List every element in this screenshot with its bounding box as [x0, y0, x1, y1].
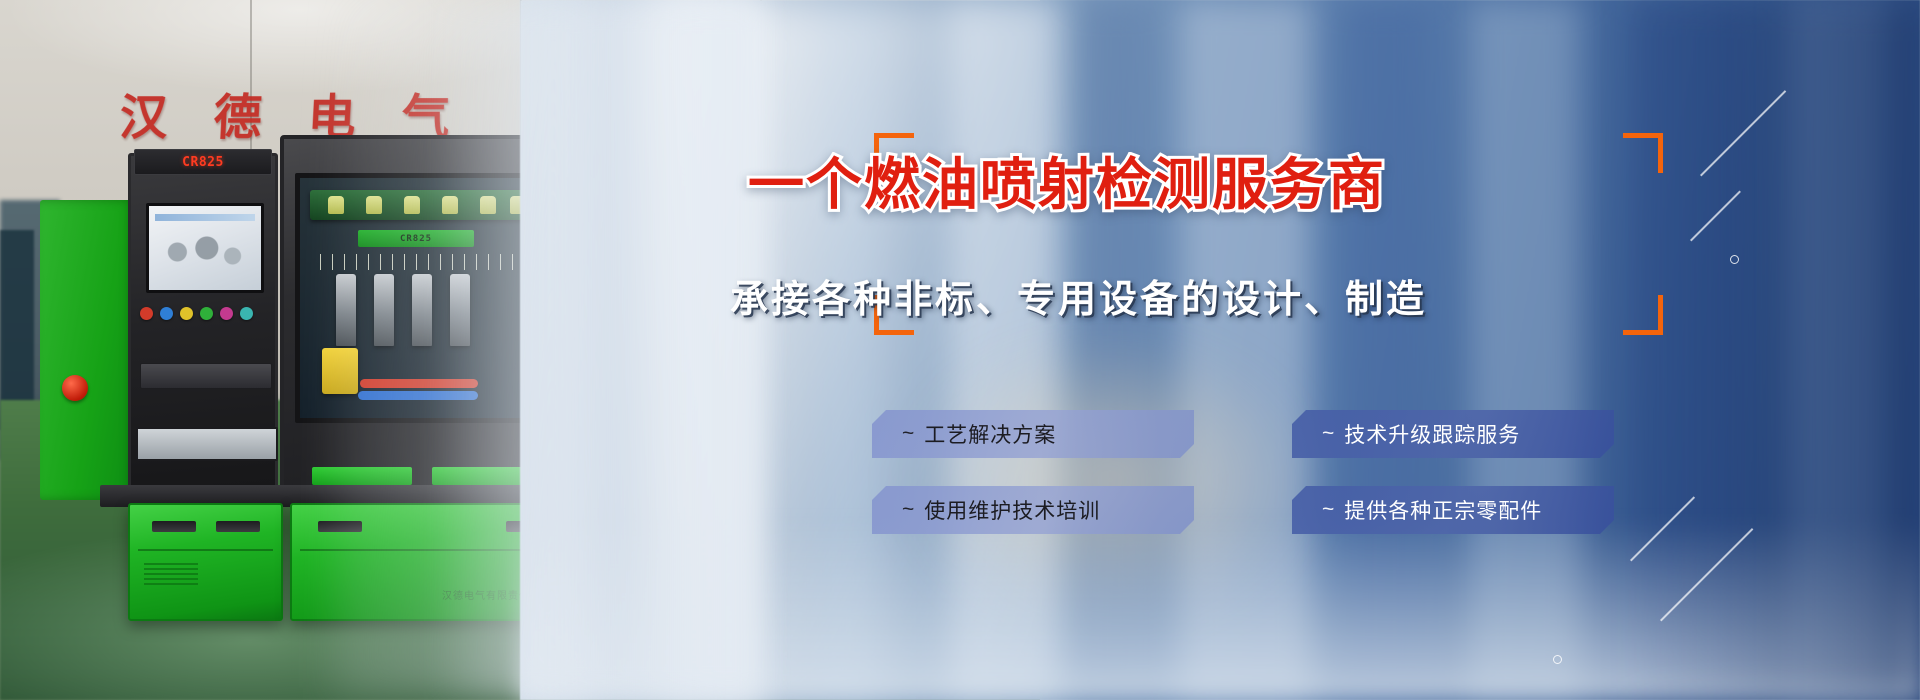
feature-tag-maintenance-training[interactable]: ~ 使用维护技术培训 [872, 486, 1194, 534]
feature-tag-label: 提供各种正宗零配件 [1344, 495, 1542, 525]
banner-headline: 一个燃油喷射检测服务商 [748, 140, 1386, 221]
feature-tag-label: 技术升级跟踪服务 [1344, 419, 1520, 449]
tilde-mark: ~ [902, 498, 915, 522]
tilde-mark: ~ [1322, 498, 1335, 522]
banner-content: 一个燃油喷射检测服务商 承接各种非标、专用设备的设计、制造 ~ 工艺解决方案 ~… [0, 0, 1920, 700]
feature-tag-label: 使用维护技术培训 [924, 495, 1100, 525]
bracket-top-right [1623, 133, 1663, 173]
banner-subheadline: 承接各种非标、专用设备的设计、制造 [730, 268, 1427, 323]
feature-tag-label: 工艺解决方案 [924, 419, 1056, 449]
tilde-mark: ~ [902, 422, 915, 446]
tilde-mark: ~ [1322, 422, 1335, 446]
feature-tag-genuine-parts[interactable]: ~ 提供各种正宗零配件 [1292, 486, 1614, 534]
feature-tag-upgrade-service[interactable]: ~ 技术升级跟踪服务 [1292, 410, 1614, 458]
feature-tag-process-solution[interactable]: ~ 工艺解决方案 [872, 410, 1194, 458]
hero-banner: 汉 德 电 气 CR825 [0, 0, 1920, 700]
bracket-bottom-right [1623, 295, 1663, 335]
